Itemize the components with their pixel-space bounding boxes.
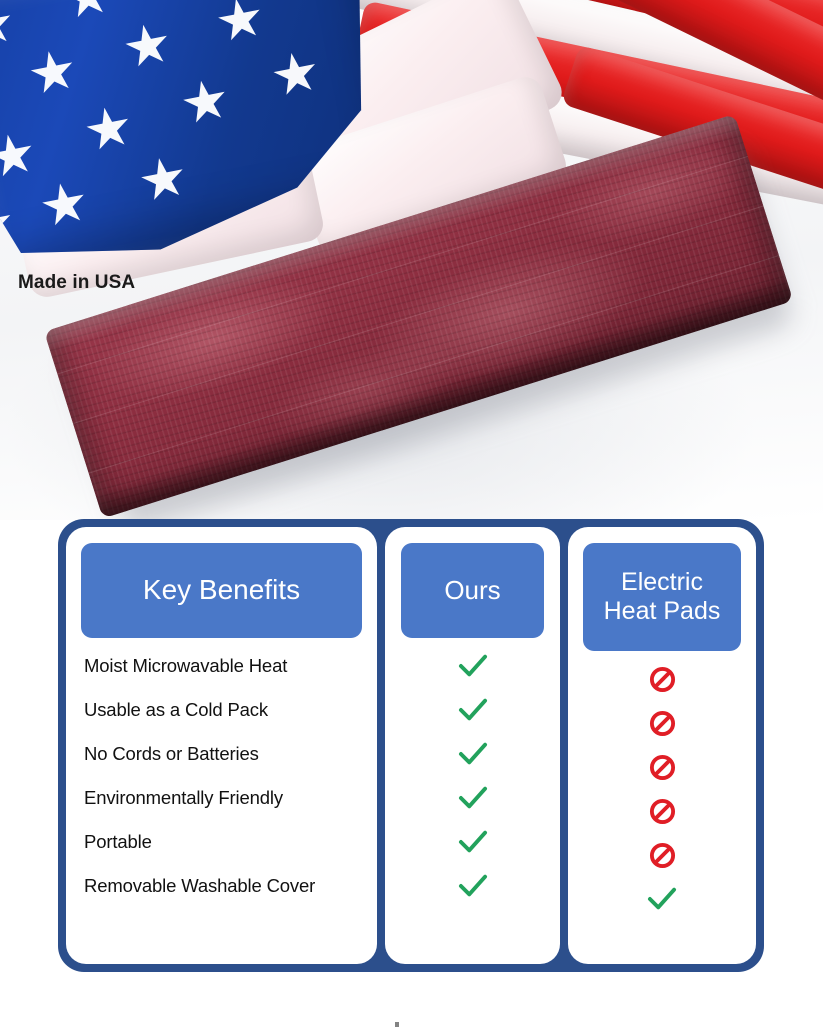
flag-star [137, 154, 189, 206]
table-row [385, 732, 560, 776]
flag-star [38, 179, 90, 231]
table-row: No Cords or Batteries [84, 732, 377, 776]
header-electric-line1: Electric [621, 568, 703, 596]
product-shade [95, 276, 793, 519]
table-row [568, 701, 756, 745]
benefit-label: Removable Washable Cover [84, 875, 315, 897]
table-row [568, 877, 756, 921]
benefit-label: Portable [84, 831, 152, 853]
check-icon [458, 829, 488, 855]
flag-star [0, 200, 17, 252]
flag-star [270, 49, 322, 101]
check-icon [458, 785, 488, 811]
table-row [385, 688, 560, 732]
table-row [385, 644, 560, 688]
benefit-label: No Cords or Batteries [84, 743, 259, 765]
flag-star [27, 47, 79, 99]
flag-star [0, 0, 16, 52]
prohibited-icon [649, 754, 676, 781]
check-icon [458, 873, 488, 899]
benefit-rows: Moist Microwavable Heat Usable as a Cold… [66, 638, 377, 954]
column-electric-heat-pads: Electric Heat Pads [568, 527, 756, 964]
benefit-label: Environmentally Friendly [84, 787, 283, 809]
check-icon [458, 653, 488, 679]
table-row: Removable Washable Cover [84, 864, 377, 908]
table-row [568, 745, 756, 789]
product-infographic: Made in USA Key Benefits Moist Microwava… [0, 0, 823, 1033]
flag-star [214, 0, 266, 46]
header-electric-line2: Heat Pads [604, 597, 721, 625]
hero-photo: Made in USA [0, 0, 823, 520]
table-row: Moist Microwavable Heat [84, 644, 377, 688]
check-icon [647, 886, 677, 912]
table-row [385, 776, 560, 820]
table-row [568, 789, 756, 833]
check-icon [458, 741, 488, 767]
prohibited-icon [649, 842, 676, 869]
table-row: Environmentally Friendly [84, 776, 377, 820]
comparison-table: Key Benefits Moist Microwavable Heat Usa… [58, 519, 764, 972]
image-artifact [395, 1022, 399, 1027]
flag-star [122, 20, 174, 72]
prohibited-icon [649, 710, 676, 737]
table-row [568, 833, 756, 877]
flag-star [61, 0, 113, 23]
check-icon [458, 697, 488, 723]
flag-star [179, 77, 231, 129]
flag-star [0, 130, 38, 182]
header-key-benefits: Key Benefits [81, 543, 362, 638]
made-in-usa-label: Made in USA [18, 272, 135, 294]
header-electric-heat-pads: Electric Heat Pads [583, 543, 741, 651]
flag-star [83, 103, 135, 155]
prohibited-icon [649, 798, 676, 825]
header-ours: Ours [401, 543, 544, 638]
table-row: Usable as a Cold Pack [84, 688, 377, 732]
table-row [385, 820, 560, 864]
table-row: Portable [84, 820, 377, 864]
table-row [385, 864, 560, 908]
benefit-label: Moist Microwavable Heat [84, 655, 287, 677]
column-key-benefits: Key Benefits Moist Microwavable Heat Usa… [66, 527, 377, 964]
table-row [568, 657, 756, 701]
column-ours: Ours [385, 527, 560, 964]
ours-rows [385, 638, 560, 954]
electric-rows [568, 651, 756, 954]
prohibited-icon [649, 666, 676, 693]
benefit-label: Usable as a Cold Pack [84, 699, 268, 721]
